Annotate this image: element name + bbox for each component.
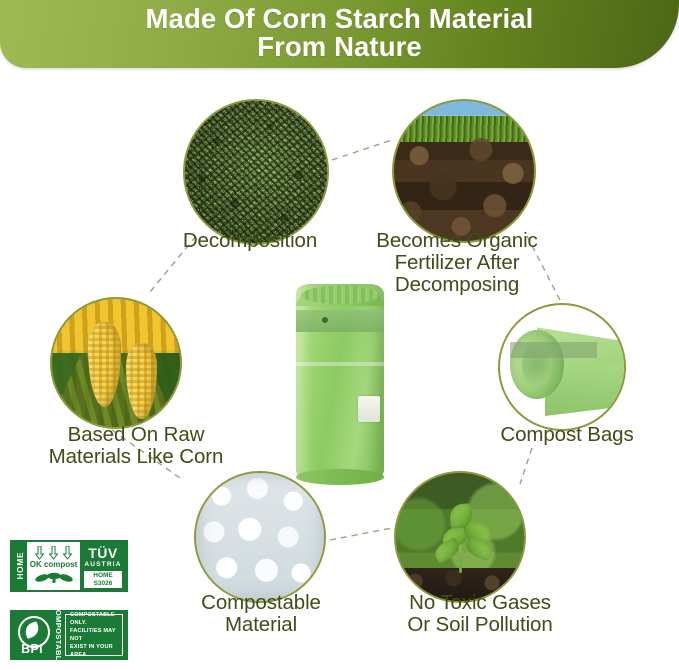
- banner-title-line2: From Nature: [146, 33, 534, 61]
- bpi-logo-mark: BPI: [12, 612, 52, 658]
- bpi-compostable-label: COMPOSTABLE: [54, 604, 63, 666]
- banner-title-line1: Made Of Corn Starch Material: [146, 3, 534, 34]
- down-arrows-icon-group: [35, 546, 72, 560]
- certification-tuv-ok-compost-home: HOME OK compost: [10, 540, 128, 592]
- pellet-cluster: [196, 473, 324, 601]
- down-arrow-icon: [35, 546, 44, 560]
- label-compostable-material: Compostable Material: [156, 592, 366, 636]
- tuv-ok-compost-text: OK compost: [30, 561, 78, 569]
- tuv-home-strip: HOME: [12, 542, 27, 590]
- bpi-disclaimer-text: COMMERCIALLY COMPOSTABLE ONLY. FACILITIE…: [70, 603, 122, 668]
- tuv-brand-panel: TÜV AUSTRIA HOME S3026: [80, 542, 126, 590]
- certification-bpi-compostable: BPI COMPOSTABLE COMMERCIALLY COMPOSTABLE…: [10, 610, 128, 660]
- tuv-brand-text: TÜV: [88, 546, 118, 560]
- image-compost-bags-roll: [498, 303, 626, 431]
- tuv-code-box: HOME S3026: [84, 571, 122, 588]
- soil-clods: [394, 137, 534, 241]
- banner-title: Made Of Corn Starch Material From Nature: [146, 5, 534, 63]
- bpi-compostable-strip: COMPOSTABLE: [52, 612, 65, 658]
- product-roll-of-bags: [296, 284, 384, 480]
- label-decomposition: Decomposition: [150, 230, 350, 252]
- image-seedling: [394, 471, 526, 603]
- bpi-leaf-icon: [18, 616, 50, 648]
- image-resin-pellets: [194, 471, 326, 603]
- tuv-code-line1: HOME: [84, 572, 122, 579]
- tuv-region-text: AUSTRIA: [84, 560, 121, 569]
- image-corn-cobs: [50, 297, 182, 429]
- down-arrow-icon: [49, 546, 58, 560]
- sprout-icon: [34, 570, 74, 588]
- label-no-toxic-gases: No Toxic Gases Or Soil Pollution: [370, 592, 590, 636]
- image-decomposition: [183, 99, 329, 245]
- image-soil-cross-section: [392, 99, 536, 243]
- product-coil: [301, 286, 378, 304]
- connector-decomp-to-fertilizer: [332, 140, 392, 160]
- product-label-tag: [358, 396, 380, 422]
- bag-band: [510, 342, 597, 358]
- decomposition-grain-texture: [185, 101, 327, 243]
- down-arrow-icon: [63, 546, 72, 560]
- product-seam: [296, 362, 384, 366]
- connector-pellets-to-seedling: [330, 528, 392, 540]
- bpi-disclaimer-box: COMMERCIALLY COMPOSTABLE ONLY. FACILITIE…: [65, 614, 123, 656]
- label-based-on-raw-materials: Based On Raw Materials Like Corn: [18, 424, 254, 468]
- tuv-ok-panel: OK compost: [27, 542, 80, 590]
- infographic-canvas: Made Of Corn Starch Material From Nature…: [0, 0, 679, 670]
- tuv-home-strip-label: HOME: [15, 552, 25, 580]
- product-band: [296, 310, 384, 332]
- label-compost-bags: Compost Bags: [472, 424, 662, 446]
- tuv-code-line2: S3026: [84, 580, 122, 587]
- header-banner: Made Of Corn Starch Material From Nature: [0, 0, 679, 68]
- product-base: [296, 469, 384, 485]
